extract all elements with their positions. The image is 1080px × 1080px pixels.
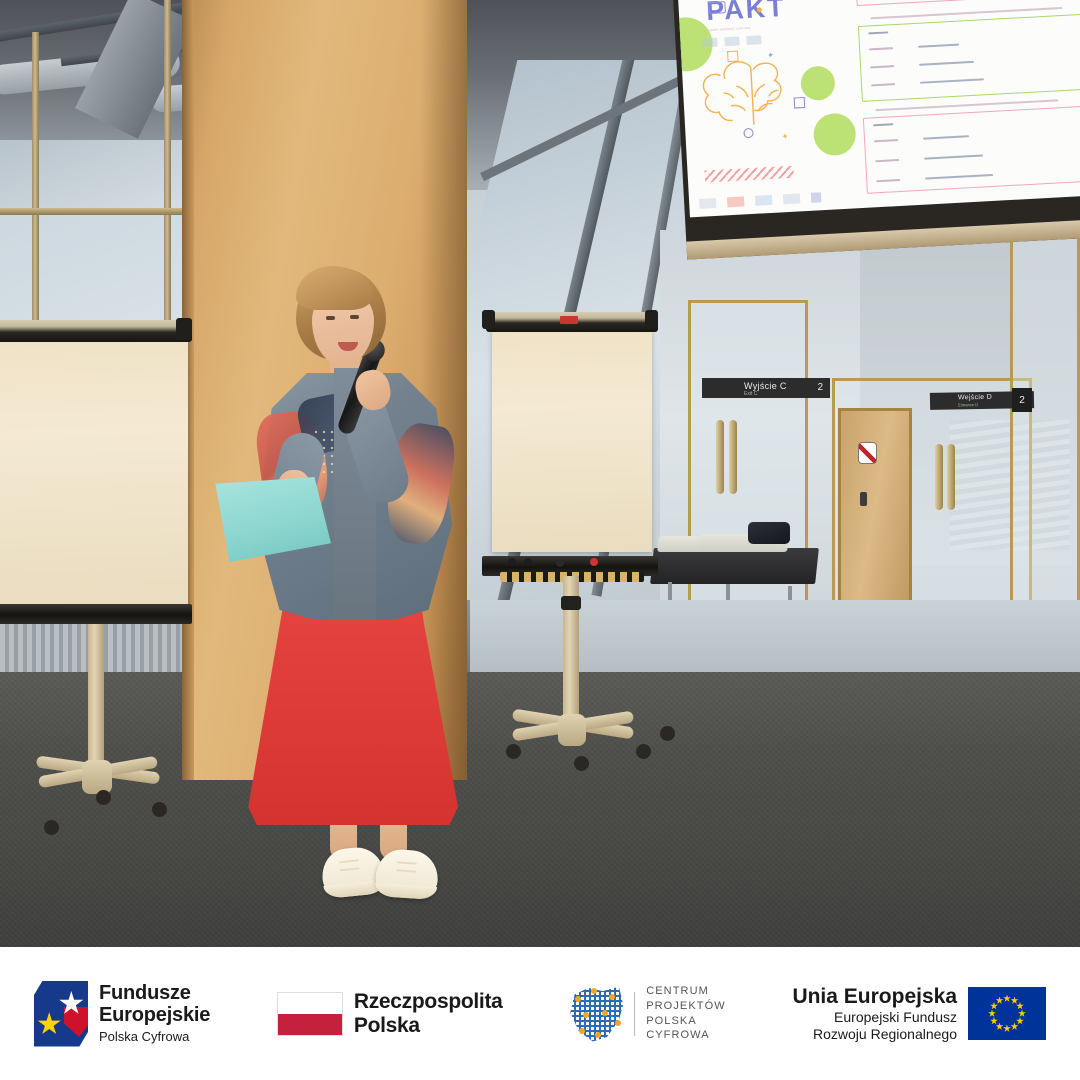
rp-line-1: Rzeczpospolita bbox=[354, 990, 503, 1013]
entrance-sign-d-number-tab: 2 bbox=[1012, 388, 1032, 412]
ue-line-2: Europejski Fundusz bbox=[834, 1009, 957, 1026]
cppc-node-icon bbox=[595, 1032, 601, 1038]
flipchart-left-wheel bbox=[152, 802, 167, 817]
fe-line-2: Europejskie bbox=[99, 1005, 210, 1026]
flipchart-left-tray bbox=[0, 604, 192, 624]
presentation-slide: INFORMACJE dla dobrych praktyk i wdrażan… bbox=[677, 0, 1080, 217]
eu-flag-icon bbox=[968, 987, 1046, 1040]
agenda-time bbox=[875, 159, 899, 162]
agenda-time bbox=[876, 179, 900, 182]
cppc-line-1: CENTRUM bbox=[646, 984, 726, 999]
slide-left-column: INFORMACJE dla dobrych praktyk i wdrażan… bbox=[677, 0, 861, 217]
page-root: Wyjście C Exit C 2 Wejście D Entrance D … bbox=[0, 0, 1080, 1080]
event-photo: Wyjście C Exit C 2 Wejście D Entrance D … bbox=[0, 0, 1080, 947]
flipchart-right-wheel bbox=[660, 726, 675, 741]
service-door bbox=[838, 408, 912, 608]
cppc-node-icon bbox=[583, 1012, 589, 1018]
flipchart-left-wheel bbox=[44, 820, 59, 835]
logo-rzeczpospolita-polska: Rzeczpospolita Polska bbox=[277, 990, 503, 1036]
flipchart-left-paper bbox=[0, 340, 188, 606]
footer-logo bbox=[783, 193, 801, 204]
fe-line-3: Polska Cyfrowa bbox=[99, 1030, 210, 1044]
agenda-speaker bbox=[924, 154, 983, 160]
cppc-line-2: PROJEKTÓW bbox=[646, 999, 726, 1014]
eu-star-icon bbox=[1003, 995, 1011, 1003]
ue-line-1: Unia Europejska bbox=[792, 984, 957, 1009]
eu-star-icon bbox=[996, 997, 1004, 1005]
door-lock-icon bbox=[860, 492, 867, 506]
logo-unia-europejska: Unia Europejska Europejski Fundusz Rozwo… bbox=[792, 984, 1046, 1043]
shoe-lace bbox=[397, 861, 417, 864]
cppc-node-icon bbox=[602, 1010, 608, 1016]
footer-logo bbox=[811, 192, 822, 203]
flipchart-marker-red bbox=[590, 558, 598, 566]
flipchart-left-top-bar bbox=[0, 320, 192, 342]
decor-blob bbox=[813, 112, 857, 156]
cppc-circuit-poland-icon bbox=[569, 986, 623, 1042]
entrance-sign-d-title: Wejście D bbox=[958, 394, 992, 402]
door-handle bbox=[716, 420, 724, 494]
flipchart-marker-black bbox=[524, 558, 532, 566]
rzeczpospolita-polska-text: Rzeczpospolita Polska bbox=[354, 990, 503, 1036]
cppc-line-3: POLSKA bbox=[646, 1014, 726, 1029]
eu-star-icon bbox=[996, 1022, 1004, 1030]
flipchart-right-paper bbox=[492, 330, 652, 552]
flipchart-right-wheel bbox=[636, 744, 651, 759]
entrance-sign-d-subtitle: Entrance D bbox=[958, 402, 978, 407]
agenda-block-label bbox=[873, 123, 893, 126]
shoe-lace bbox=[339, 859, 359, 863]
cppc-text: CENTRUM PROJEKTÓW POLSKA CYFROWA bbox=[646, 984, 726, 1042]
footer-logo bbox=[755, 195, 773, 206]
footer-logo bbox=[699, 198, 717, 209]
cppc-node-icon bbox=[591, 988, 597, 994]
cppc-node-icon bbox=[615, 1020, 621, 1026]
flipchart-marker-dark bbox=[556, 559, 564, 567]
exit-sign-c-title: Wyjście C bbox=[744, 381, 787, 391]
eu-star-icon bbox=[990, 1002, 998, 1010]
window-mullion bbox=[0, 208, 190, 215]
agenda-speaker bbox=[923, 135, 968, 140]
ue-line-3: Rozwoju Regionalnego bbox=[813, 1026, 957, 1043]
exit-sign-c-subtitle: Exit C bbox=[744, 391, 757, 397]
agenda-speaker bbox=[926, 174, 994, 180]
window-pane bbox=[0, 140, 186, 210]
flipchart-right-wheel bbox=[574, 756, 589, 771]
partner-logo bbox=[703, 38, 718, 48]
footer-logo bbox=[727, 196, 745, 207]
agenda-block bbox=[854, 0, 1080, 6]
flipchart-marker-black bbox=[508, 558, 516, 566]
decor-zigzag bbox=[705, 166, 795, 183]
flipchart-right-base bbox=[558, 714, 586, 746]
flipchart-right-brand-label bbox=[560, 316, 578, 324]
cppc-divider bbox=[634, 992, 635, 1036]
fundusze-europejskie-mark bbox=[34, 981, 88, 1047]
flipchart-left-wheel bbox=[96, 790, 111, 805]
slide-screen-icon bbox=[708, 1, 726, 14]
unia-europejska-text: Unia Europejska Europejski Fundusz Rozwo… bbox=[792, 984, 957, 1043]
eu-funding-footer: Fundusze Europejskie Polska Cyfrowa Rzec… bbox=[0, 947, 1080, 1080]
rp-line-2: Polska bbox=[354, 1014, 503, 1037]
agenda-block bbox=[857, 14, 1080, 102]
bag-on-bench bbox=[748, 522, 790, 544]
glass-panel-far-right bbox=[1010, 236, 1080, 636]
screen-frame: INFORMACJE dla dobrych praktyk i wdrażan… bbox=[672, 0, 1080, 260]
poland-flag-icon bbox=[277, 992, 343, 1036]
flipchart-left-post bbox=[88, 624, 104, 770]
door-handle bbox=[935, 444, 943, 510]
logo-centrum-projektow-polska-cyfrowa: CENTRUM PROJEKTÓW POLSKA CYFROWA bbox=[569, 984, 726, 1042]
cppc-node-icon bbox=[579, 1028, 585, 1034]
eu-star-icon bbox=[1016, 1002, 1024, 1010]
agenda-speaker bbox=[920, 78, 983, 84]
speaker-eye bbox=[326, 316, 335, 320]
eu-star-icon bbox=[1011, 997, 1019, 1005]
flipchart-right-cap bbox=[645, 310, 658, 329]
agenda-time bbox=[870, 65, 894, 68]
agenda-time bbox=[874, 139, 898, 142]
partner-logo bbox=[725, 36, 740, 46]
cppc-line-4: CYFROWA bbox=[646, 1028, 726, 1043]
projection-screen: INFORMACJE dla dobrych praktyk i wdrażan… bbox=[672, 0, 1080, 260]
poland-flag-red-band bbox=[278, 1014, 342, 1035]
agenda-block-label bbox=[868, 31, 888, 34]
speaker-eye bbox=[350, 315, 359, 319]
shoe-lace bbox=[340, 867, 360, 871]
flipchart-right-cap bbox=[482, 310, 495, 329]
eu-star-icon bbox=[1018, 1010, 1026, 1018]
partner-logo bbox=[747, 35, 762, 45]
speaker-mouth bbox=[338, 342, 358, 351]
door-handle bbox=[947, 444, 955, 510]
flipchart-left-cap bbox=[176, 318, 192, 340]
fe-line-1: Fundusze bbox=[99, 983, 210, 1004]
eu-star-icon bbox=[988, 1010, 996, 1018]
slide-footer-logos bbox=[699, 192, 821, 209]
eu-star-icon bbox=[1011, 1022, 1019, 1030]
agenda-speaker bbox=[918, 44, 959, 49]
agenda-speaker bbox=[919, 61, 973, 66]
cppc-node-icon bbox=[609, 994, 615, 1000]
flipchart-left-base bbox=[82, 760, 112, 794]
exit-sign-c-number: 2 bbox=[817, 382, 823, 393]
poland-flag-white-band bbox=[278, 993, 342, 1014]
entrance-sign-d-number: 2 bbox=[1019, 395, 1025, 406]
shoe-lace bbox=[396, 869, 416, 872]
eu-star-icon bbox=[1003, 1025, 1011, 1033]
eu-star-icon bbox=[1016, 1017, 1024, 1025]
flipchart-right-post-collar bbox=[561, 596, 581, 610]
brain-illustration bbox=[695, 46, 810, 146]
agenda-time bbox=[869, 47, 893, 50]
door-handle bbox=[729, 420, 737, 494]
eu-star-icon bbox=[990, 1017, 998, 1025]
slide-partner-logos bbox=[703, 35, 762, 47]
fundusze-europejskie-text: Fundusze Europejskie Polska Cyfrowa bbox=[99, 983, 210, 1043]
footer-logo-row: Fundusze Europejskie Polska Cyfrowa Rzec… bbox=[0, 981, 1080, 1047]
logo-fundusze-europejskie: Fundusze Europejskie Polska Cyfrowa bbox=[34, 981, 210, 1047]
cppc-node-icon bbox=[575, 996, 581, 1002]
agenda-time bbox=[871, 83, 895, 86]
lobby-bench bbox=[650, 548, 819, 584]
no-entry-icon bbox=[858, 442, 877, 464]
flipchart-right-wheel bbox=[506, 744, 521, 759]
slide-agenda bbox=[855, 0, 1080, 205]
exit-sign-c: Wyjście C Exit C 2 bbox=[702, 378, 830, 398]
agenda-block bbox=[862, 106, 1080, 194]
